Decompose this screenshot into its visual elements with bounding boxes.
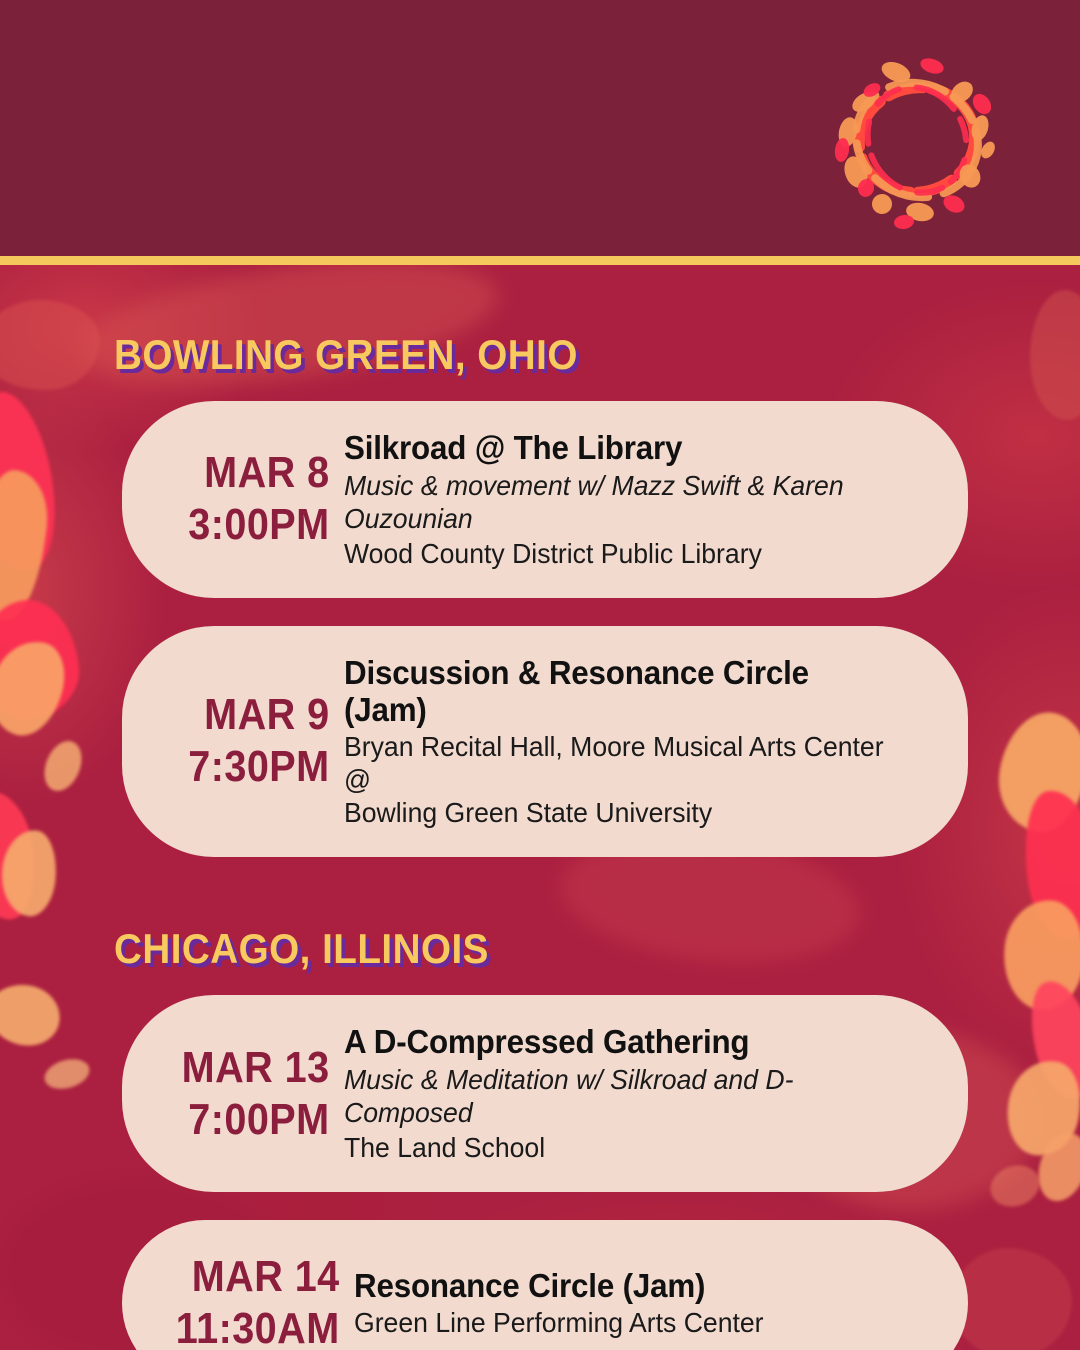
- event-info-column: Resonance Circle (Jam) Green Line Perfor…: [354, 1267, 928, 1339]
- event-time: 7:30PM: [175, 745, 330, 789]
- event-date: MAR 13: [175, 1046, 330, 1090]
- event-card[interactable]: MAR 9 7:30PM Discussion & Resonance Circ…: [122, 626, 968, 857]
- event-card[interactable]: MAR 14 11:30AM Resonance Circle (Jam) Gr…: [122, 1220, 968, 1350]
- event-title: Silkroad @ The Library: [344, 429, 899, 467]
- event-time: 11:30AM: [176, 1307, 340, 1350]
- event-date-column: MAR 9 7:30PM: [175, 693, 344, 789]
- silkroad-ring-logo-icon: [812, 40, 1022, 240]
- event-venue: Green Line Performing Arts Center: [354, 1306, 899, 1339]
- event-info-column: Silkroad @ The Library Music & movement …: [344, 429, 928, 570]
- event-title: Resonance Circle (Jam): [354, 1267, 899, 1305]
- event-time: 7:00PM: [175, 1098, 330, 1142]
- event-time: 3:00PM: [175, 503, 330, 547]
- event-date-column: MAR 14 11:30AM: [176, 1255, 354, 1350]
- section-bowling-green: BOWLING GREEN, OHIO MAR 8 3:00PM Silkroa…: [0, 331, 1080, 857]
- event-subtitle: Music & movement w/ Mazz Swift & Karen O…: [344, 469, 899, 536]
- event-info-column: Discussion & Resonance Circle (Jam) Brya…: [344, 654, 928, 829]
- event-title: A D-Compressed Gathering: [344, 1023, 899, 1061]
- event-title: Discussion & Resonance Circle (Jam): [344, 654, 899, 729]
- event-date-column: MAR 8 3:00PM: [175, 451, 344, 547]
- event-info-column: A D-Compressed Gathering Music & Meditat…: [344, 1023, 928, 1164]
- event-venue: Bryan Recital Hall, Moore Musical Arts C…: [344, 730, 899, 829]
- gold-divider-rule: [0, 256, 1080, 265]
- city-heading-chicago: CHICAGO, ILLINOIS: [114, 925, 1003, 973]
- programs-list: BOWLING GREEN, OHIO MAR 8 3:00PM Silkroa…: [0, 265, 1080, 1350]
- section-chicago: CHICAGO, ILLINOIS MAR 13 7:00PM A D-Comp…: [0, 925, 1080, 1350]
- event-venue: The Land School: [344, 1131, 899, 1164]
- event-date: MAR 14: [176, 1255, 340, 1299]
- event-date: MAR 8: [175, 451, 330, 495]
- event-card[interactable]: MAR 8 3:00PM Silkroad @ The Library Musi…: [122, 401, 968, 598]
- event-venue: Wood County District Public Library: [344, 537, 899, 570]
- event-date-column: MAR 13 7:00PM: [175, 1046, 344, 1142]
- event-card[interactable]: MAR 13 7:00PM A D-Compressed Gathering M…: [122, 995, 968, 1192]
- free-programs-poster: FREE PROGRAMS: [0, 0, 1080, 1350]
- city-heading-bowling-green: BOWLING GREEN, OHIO: [114, 331, 1003, 379]
- event-subtitle: Music & Meditation w/ Silkroad and D-Com…: [344, 1063, 899, 1130]
- event-date: MAR 9: [175, 693, 330, 737]
